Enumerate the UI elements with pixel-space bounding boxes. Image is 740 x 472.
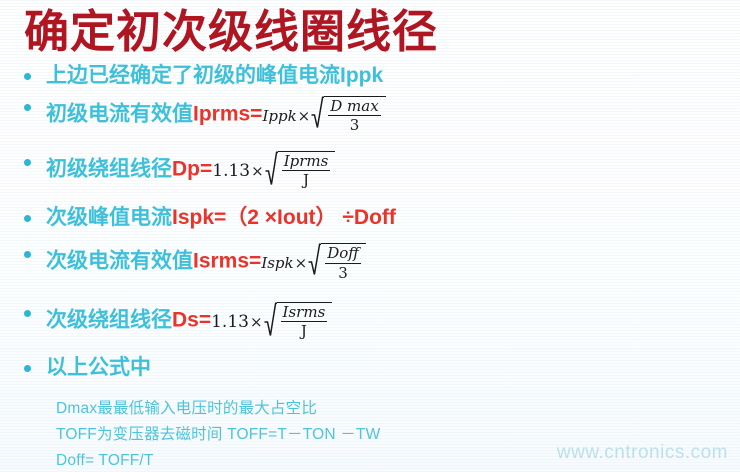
sqrt-radicand: D max3 [324, 96, 385, 138]
note-line-dmax: Dmax最最低输入电压时的最大占空比 [56, 396, 740, 422]
fraction: D max3 [327, 98, 381, 133]
formula-bullet-list: 上边已经确定了初级的峰值电流Ippk 初级电流有效值Iprms=Ippk×D m… [0, 63, 740, 380]
fraction-numerator: Isrms [280, 304, 329, 321]
bullet-dot-icon [24, 365, 31, 372]
formula-rhs-ispk: Ispk=（2 ×Iout） ÷Doff [172, 206, 396, 229]
formula-rhs-iprms: Ippk×D max3 [262, 96, 385, 138]
formula-lhs-dp: Dp= [172, 158, 212, 181]
watermark: www.cntronics.com [557, 442, 728, 464]
formula-lead-iprms: Ippk [262, 107, 296, 125]
bullet-label-dp: 初级绕组线径 [46, 158, 172, 181]
page-title: 确定初次级线圈线径 [0, 0, 740, 60]
formula-lhs-isrms: Isrms= [193, 250, 261, 273]
fraction: IsrmsJ [280, 304, 329, 339]
sqrt-radicand: IsrmsJ [277, 302, 333, 344]
fraction-denominator: J [281, 171, 332, 188]
fraction-denominator: J [280, 322, 329, 339]
bullet-label-iprms: 初级电流有效值 [46, 103, 193, 126]
bullet-label-ds: 次级绕组线径 [46, 308, 172, 331]
bullet-item-dp: 初级绕组线径Dp=1.13×IprmsJ [22, 149, 740, 191]
formula-op-isrms: × [294, 254, 309, 272]
bullet-dot-icon [24, 251, 31, 258]
fraction: IprmsJ [281, 153, 332, 188]
sqrt-radicand: IprmsJ [278, 151, 336, 193]
sqrt-icon: Doff3 [308, 243, 366, 285]
formula-op-iprms: × [297, 107, 312, 125]
formula-op-ds: × [249, 313, 264, 331]
fraction: Doff3 [324, 245, 362, 280]
sqrt-hook-icon [264, 301, 277, 343]
bullet-label-ippk: 上边已经确定了初级的峰值电流Ippk [46, 64, 383, 87]
sqrt-icon: D max3 [311, 96, 385, 138]
bullet-item-isrms: 次级电流有效值Isrms=Ispk×Doff3 [22, 241, 740, 283]
bullet-dot-icon [24, 104, 31, 111]
bullet-item-iprms: 初级电流有效值Iprms=Ippk×D max3 [22, 94, 740, 136]
formula-lead-isrms: Ispk [261, 254, 293, 272]
bullet-dot-icon [24, 73, 31, 80]
bullet-dot-icon [24, 310, 31, 317]
bullet-label-notes-heading: 以上公式中 [46, 356, 151, 379]
slide-canvas: 确定初次级线圈线径 上边已经确定了初级的峰值电流Ippk 初级电流有效值Iprm… [0, 0, 740, 472]
fraction-numerator: D max [327, 98, 381, 115]
sqrt-hook-icon [311, 95, 324, 137]
bullet-item-ispk: 次级峰值电流Ispk=（2 ×Iout） ÷Doff [22, 205, 740, 230]
formula-op-dp: × [250, 162, 265, 180]
bullet-item-notes-heading: 以上公式中 [22, 355, 740, 380]
bullet-item-ds: 次级绕组线径Ds=1.13×IsrmsJ [22, 300, 740, 342]
sqrt-radicand: Doff3 [321, 243, 366, 285]
sqrt-icon: IprmsJ [265, 151, 336, 193]
fraction-denominator: 3 [324, 264, 362, 281]
formula-rhs-ds: 1.13×IsrmsJ [211, 302, 332, 344]
formula-lhs-iprms: Iprms= [193, 103, 262, 126]
fraction-numerator: Doff [324, 245, 362, 262]
bullet-dot-icon [24, 215, 31, 222]
formula-lead-dp: 1.13 [212, 161, 250, 181]
sqrt-hook-icon [308, 242, 321, 284]
bullet-label-ispk: 次级峰值电流 [46, 206, 172, 229]
formula-rhs-isrms: Ispk×Doff3 [261, 243, 366, 285]
formula-lead-ds: 1.13 [211, 312, 249, 332]
formula-rhs-dp: 1.13×IprmsJ [212, 151, 335, 193]
sqrt-hook-icon [265, 150, 278, 192]
formula-lhs-ds: Ds= [172, 308, 211, 331]
fraction-numerator: Iprms [281, 153, 332, 170]
sqrt-icon: IsrmsJ [264, 302, 333, 344]
bullet-label-isrms: 次级电流有效值 [46, 250, 193, 273]
fraction-denominator: 3 [327, 116, 381, 133]
bullet-item-ippk: 上边已经确定了初级的峰值电流Ippk [22, 63, 740, 88]
bullet-dot-icon [24, 159, 31, 166]
